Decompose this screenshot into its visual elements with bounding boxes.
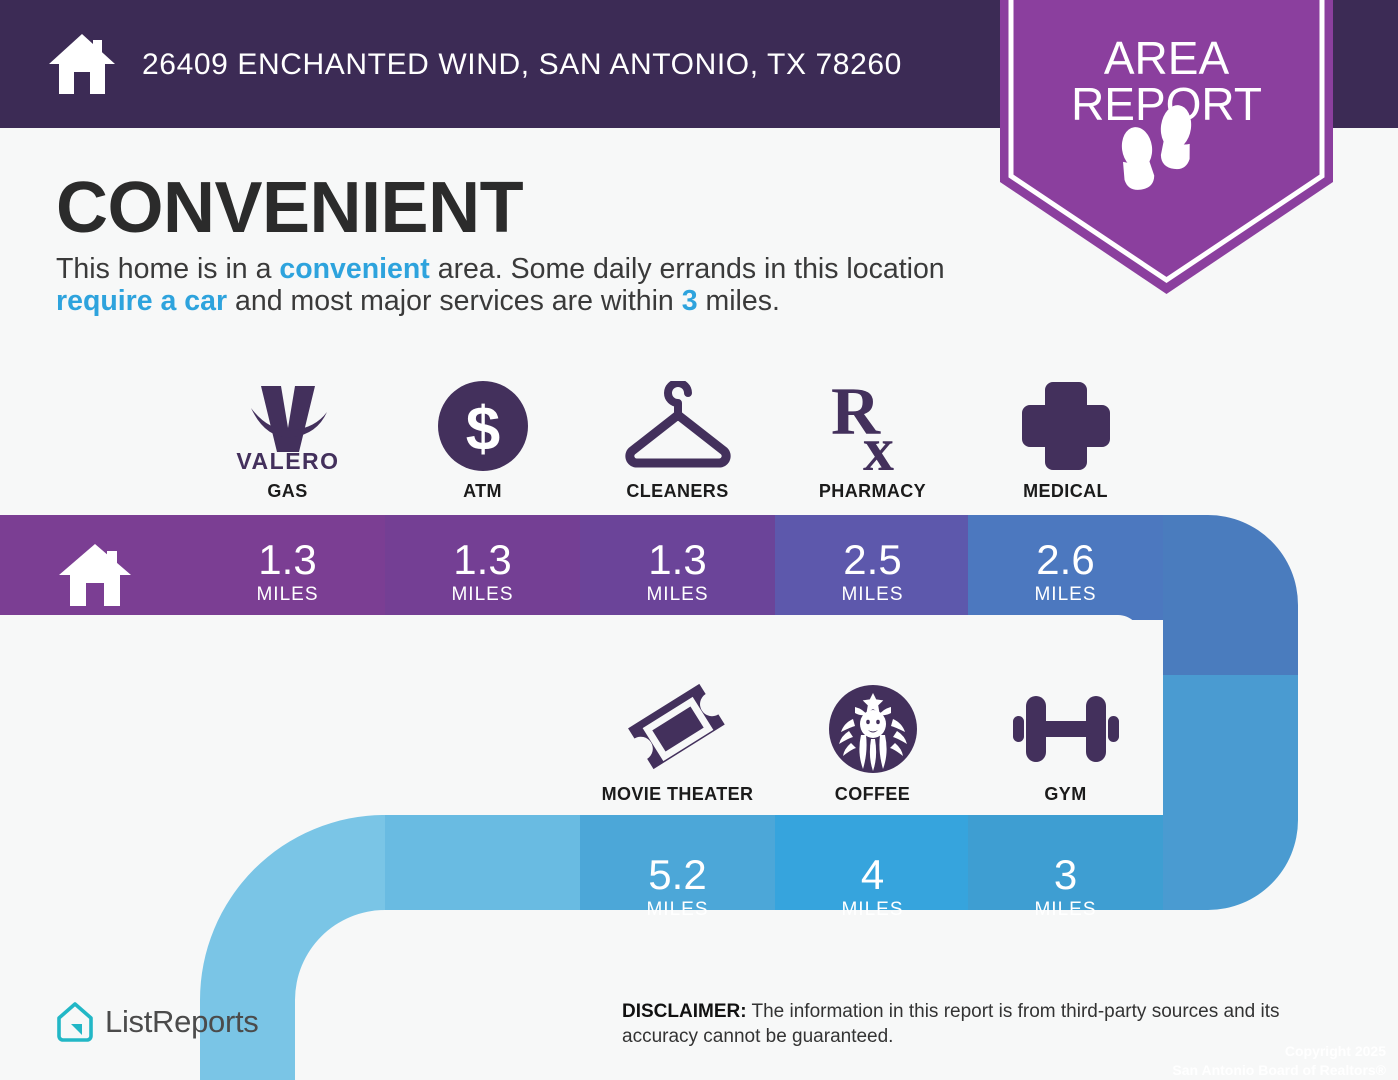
starbucks-logo-icon [827, 681, 919, 777]
copyright-line-2: San Antonio Board of Realtors® [986, 1061, 1386, 1080]
subtitle-part-3: and most major services are within [227, 285, 682, 317]
rx-icon: R x [825, 378, 921, 474]
svg-text:VALERO: VALERO [236, 448, 339, 472]
segment-empty-1 [385, 815, 580, 935]
house-icon [47, 32, 117, 96]
hanger-icon [620, 378, 736, 474]
amenity-atm: $ ATM [385, 372, 580, 502]
amenity-label: MOVIE THEATER [602, 784, 754, 805]
disclaimer-label: DISCLAIMER: [622, 1001, 747, 1022]
subtitle-highlight-2: require a car [56, 285, 227, 317]
subtitle-highlight-3: 3 [682, 285, 698, 317]
segment-cleaners [580, 500, 775, 620]
copyright-notice: Copyright 2025 San Antonio Board of Real… [986, 1042, 1386, 1080]
listreports-house-icon [55, 1000, 95, 1044]
amenity-label: PHARMACY [819, 481, 926, 502]
svg-text:x: x [863, 416, 894, 474]
segment-gas [190, 500, 385, 620]
movie-ticket-icon [628, 681, 728, 777]
subtitle-part-2: area. Some daily errands in this locatio… [430, 253, 945, 285]
svg-text:$: $ [465, 395, 499, 464]
badge-line-1: AREA [1104, 32, 1230, 84]
subtitle-part-4: miles. [698, 285, 780, 317]
amenity-medical: MEDICAL [968, 372, 1163, 502]
amenity-icon-row-bottom: MOVIE THEATER [0, 675, 1398, 805]
amenity-movie-theater: MOVIE THEATER [580, 675, 775, 805]
amenity-gas: VALERO GAS [190, 372, 385, 502]
page-subtitle: This home is in a convenient area. Some … [56, 253, 976, 317]
segment-turn-top [1163, 500, 1398, 675]
segment-medical [968, 500, 1163, 620]
valero-logo-icon: VALERO [233, 378, 343, 474]
dumbbell-icon [1013, 681, 1119, 777]
amenity-gym: GYM [968, 675, 1163, 805]
page-title: CONVENIENT [56, 172, 523, 244]
amenity-label: GAS [267, 481, 307, 502]
segment-gym [968, 815, 1163, 935]
amenity-label: MEDICAL [1023, 481, 1108, 502]
segment-atm [385, 500, 580, 620]
amenity-label: GYM [1044, 784, 1086, 805]
amenity-label: CLEANERS [626, 481, 728, 502]
copyright-line-1: Copyright 2025 [986, 1042, 1386, 1061]
amenity-coffee: COFFEE [775, 675, 970, 805]
amenity-label: ATM [463, 481, 502, 502]
property-address: 26409 ENCHANTED WIND, SAN ANTONIO, TX 78… [142, 48, 902, 82]
amenity-label: COFFEE [835, 784, 910, 805]
segment-pharmacy [775, 500, 968, 620]
subtitle-highlight-1: convenient [279, 253, 429, 285]
area-report-badge: AREA REPORT [1000, 0, 1333, 294]
listreports-logo: ListReports [55, 1000, 259, 1044]
medical-cross-icon [1020, 378, 1112, 474]
subtitle-part-1: This home is in a [56, 253, 279, 285]
dollar-circle-icon: $ [437, 378, 529, 474]
amenity-pharmacy: R x PHARMACY [775, 372, 970, 502]
amenity-icon-row-top: VALERO GAS $ ATM CLEANERS R x [0, 372, 1398, 502]
segment-coffee [775, 815, 968, 935]
segment-movie [580, 815, 775, 935]
listreports-wordmark: ListReports [105, 1004, 259, 1040]
amenity-cleaners: CLEANERS [580, 372, 775, 502]
house-icon-bar [57, 542, 133, 608]
